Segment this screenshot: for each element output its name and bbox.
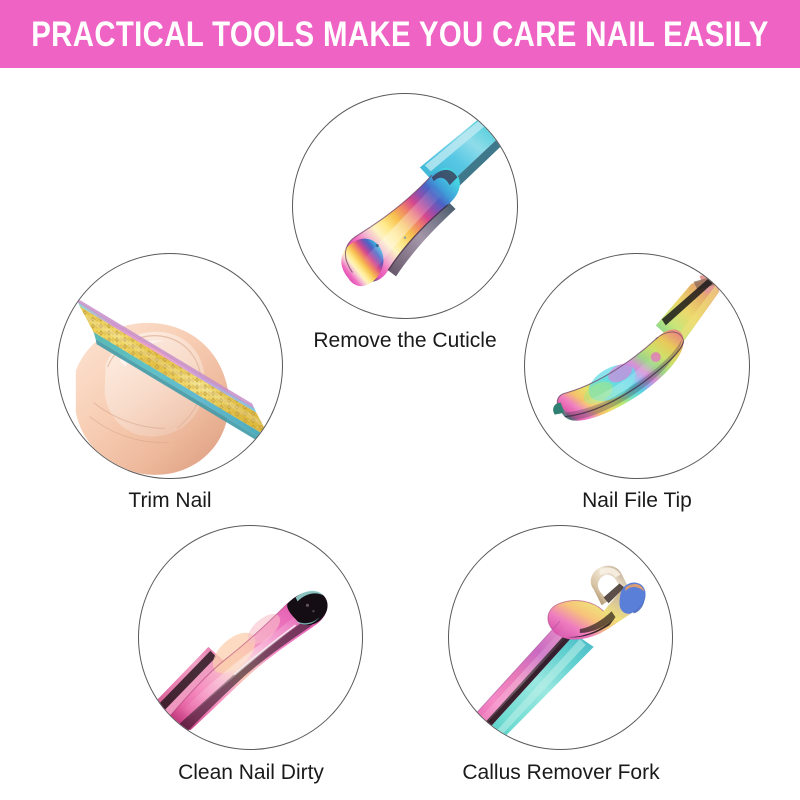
header-banner: PRACTICAL TOOLS MAKE YOU CARE NAIL EASIL… [0,0,800,68]
callus-remover-fork-photo [448,525,673,750]
nail-file-tip-photo [524,253,750,479]
caption-trim-nail: Trim Nail [10,490,330,511]
feature-callus-remover-fork: Callus Remover Fork [448,525,673,750]
feature-trim-nail: Trim Nail [57,253,283,479]
nail-cleaner-photo [138,525,363,750]
infographic-canvas: PRACTICAL TOOLS MAKE YOU CARE NAIL EASIL… [0,0,800,800]
nail-file-on-thumb-photo [57,253,283,479]
feature-nail-file-tip: Nail File Tip [524,253,750,479]
caption-remove-the-cuticle: Remove the Cuticle [245,330,565,351]
banner-title: PRACTICAL TOOLS MAKE YOU CARE NAIL EASIL… [31,17,768,52]
feature-remove-the-cuticle: Remove the Cuticle [292,93,518,319]
cuticle-pusher-photo [292,93,518,319]
caption-clean-nail-dirty: Clean Nail Dirty [91,762,411,783]
caption-callus-remover-fork: Callus Remover Fork [401,762,721,783]
feature-clean-nail-dirty: Clean Nail Dirty [138,525,363,750]
caption-nail-file-tip: Nail File Tip [477,490,797,511]
